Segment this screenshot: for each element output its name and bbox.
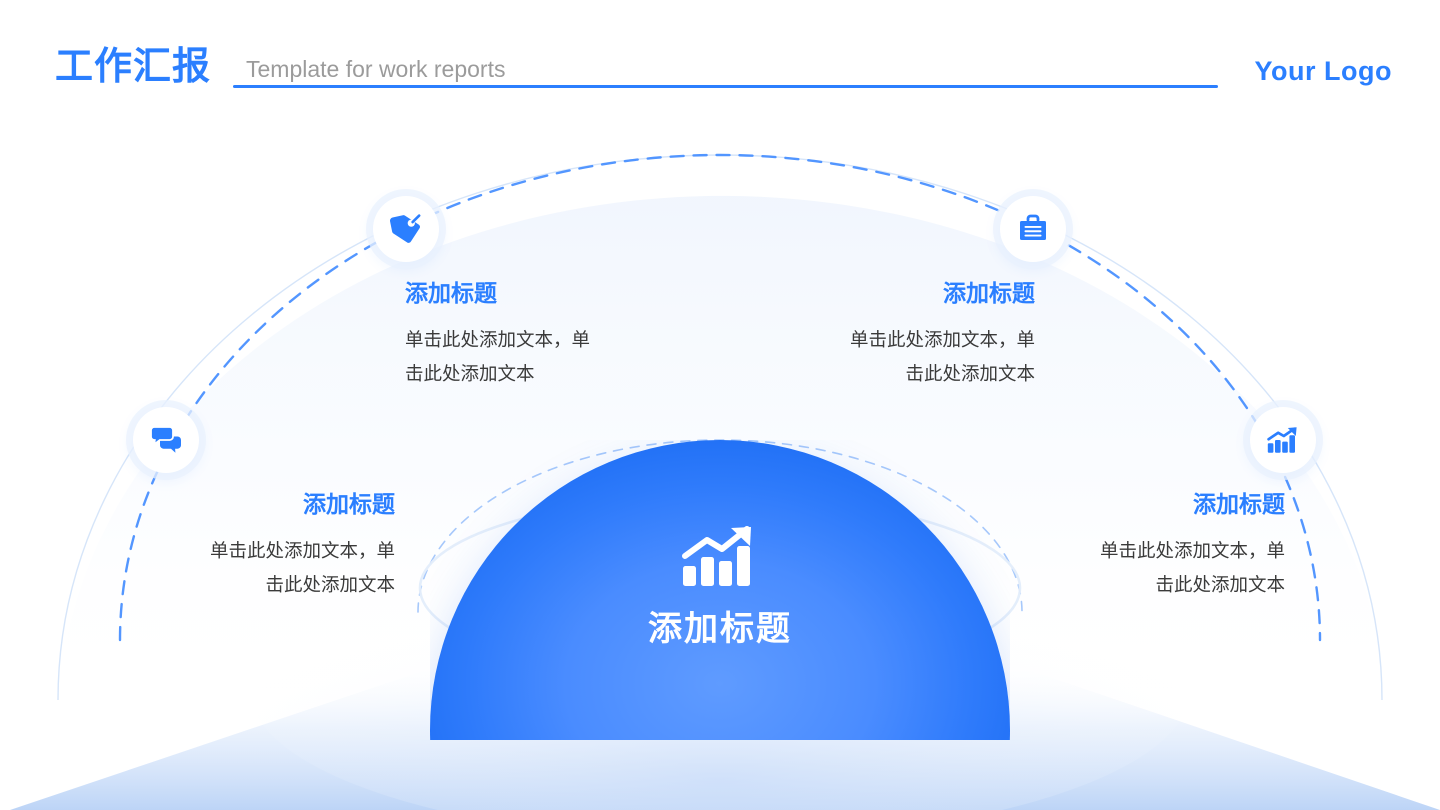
dome-title: 添加标题 <box>430 608 1010 650</box>
feature-icon-circle-top-left[interactable] <box>373 196 439 262</box>
feature-item-top-left[interactable]: 添加标题 单击此处添加文本，单 击此处添加文本 <box>405 278 705 392</box>
feature-body-top-right: 单击此处添加文本，单 击此处添加文本 <box>735 324 1035 392</box>
feature-icon-circle-middle-right[interactable] <box>1250 407 1316 473</box>
feature-body-middle-left: 单击此处添加文本，单 击此处添加文本 <box>155 535 395 603</box>
feature-icon-circle-middle-left[interactable] <box>133 407 199 473</box>
page-title: 工作汇报 <box>55 43 211 91</box>
feature-body-line: 击此处添加文本 <box>155 569 395 603</box>
feature-body-line: 击此处添加文本 <box>1045 569 1285 603</box>
feature-body-top-left: 单击此处添加文本，单 击此处添加文本 <box>405 324 705 392</box>
briefcase-icon <box>1017 213 1049 245</box>
header-divider <box>233 85 1218 88</box>
feature-title-top-right: 添加标题 <box>735 278 1035 308</box>
feature-item-middle-left[interactable]: 添加标题 单击此处添加文本，单 击此处添加文本 <box>155 489 395 603</box>
tag-icon <box>390 213 422 245</box>
growth-chart-icon <box>681 526 759 588</box>
feature-item-top-right[interactable]: 添加标题 单击此处添加文本，单 击此处添加文本 <box>735 278 1035 392</box>
page-subtitle: Template for work reports <box>246 52 505 86</box>
feature-body-line: 单击此处添加文本，单 <box>1045 535 1285 569</box>
feature-body-line: 击此处添加文本 <box>405 358 705 392</box>
feature-body-middle-right: 单击此处添加文本，单 击此处添加文本 <box>1045 535 1285 603</box>
feature-title-middle-left: 添加标题 <box>155 489 395 519</box>
feature-body-line: 单击此处添加文本，单 <box>155 535 395 569</box>
dome-content: 添加标题 <box>430 526 1010 650</box>
center-dome[interactable]: 添加标题 <box>430 440 1010 740</box>
feature-body-line: 单击此处添加文本，单 <box>735 324 1035 358</box>
feature-item-middle-right[interactable]: 添加标题 单击此处添加文本，单 击此处添加文本 <box>1045 489 1285 603</box>
feature-title-middle-right: 添加标题 <box>1045 489 1285 519</box>
chat-bubbles-icon <box>150 425 182 455</box>
growth-chart-icon <box>1267 426 1299 454</box>
slide-header: 工作汇报 Template for work reports Your Logo <box>0 0 1440 120</box>
slide-canvas: 工作汇报 Template for work reports Your Logo… <box>0 0 1440 810</box>
feature-title-top-left: 添加标题 <box>405 278 705 308</box>
feature-icon-circle-top-right[interactable] <box>1000 196 1066 262</box>
logo-text[interactable]: Your Logo <box>1255 56 1392 87</box>
feature-body-line: 击此处添加文本 <box>735 358 1035 392</box>
feature-body-line: 单击此处添加文本，单 <box>405 324 705 358</box>
